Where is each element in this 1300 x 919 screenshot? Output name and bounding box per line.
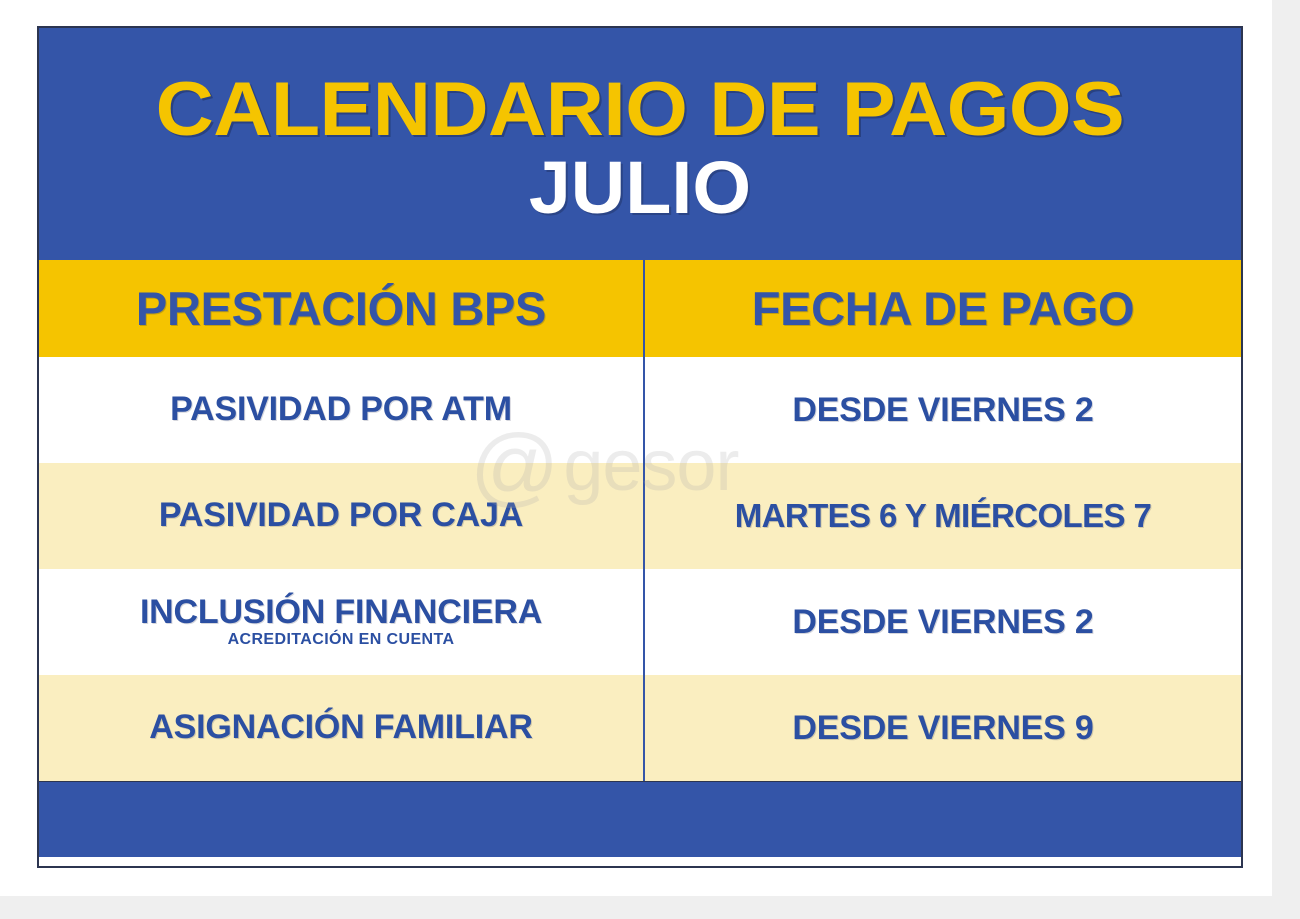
table-row: INCLUSIÓN FINANCIERA ACREDITACIÓN EN CUE…: [39, 569, 1241, 675]
benefit-label: INCLUSIÓN FINANCIERA: [140, 595, 542, 631]
page-bottom-strip: [0, 896, 1300, 919]
benefit-label: PASIVIDAD POR ATM: [170, 392, 512, 428]
pay-date-label: DESDE VIERNES 9: [645, 709, 1241, 748]
cell-pay-date: DESDE VIERNES 9: [644, 675, 1241, 781]
table-row: PASIVIDAD POR CAJA MARTES 6 Y MIÉRCOLES …: [39, 463, 1241, 569]
page-canvas: CALENDARIO DE PAGOS JULIO PRESTACIÓN BPS…: [0, 0, 1300, 919]
benefit-label: ASIGNACIÓN FAMILIAR: [149, 710, 532, 746]
benefit-label: PASIVIDAD POR CAJA: [159, 498, 523, 534]
column-header-benefit: PRESTACIÓN BPS: [39, 260, 644, 357]
pay-date-label: DESDE VIERNES 2: [645, 391, 1241, 430]
poster-footer-bar: [39, 781, 1241, 857]
payments-table: PRESTACIÓN BPS FECHA DE PAGO PASIVIDAD P…: [39, 260, 1241, 781]
cell-pay-date: DESDE VIERNES 2: [644, 357, 1241, 463]
cell-benefit: PASIVIDAD POR ATM: [39, 357, 644, 463]
page-right-rail: [1272, 0, 1300, 896]
poster-banner: CALENDARIO DE PAGOS JULIO: [39, 28, 1241, 260]
cell-benefit: INCLUSIÓN FINANCIERA ACREDITACIÓN EN CUE…: [39, 569, 644, 675]
poster-month-subtitle: JULIO: [529, 150, 751, 225]
cell-benefit: PASIVIDAD POR CAJA: [39, 463, 644, 569]
cell-pay-date: DESDE VIERNES 2: [644, 569, 1241, 675]
payment-calendar-poster: CALENDARIO DE PAGOS JULIO PRESTACIÓN BPS…: [37, 26, 1243, 868]
column-header-pay-date: FECHA DE PAGO: [644, 260, 1241, 357]
benefit-note-label: ACREDITACIÓN EN CUENTA: [228, 632, 455, 649]
table-header-row: PRESTACIÓN BPS FECHA DE PAGO: [39, 260, 1241, 357]
pay-date-label: DESDE VIERNES 2: [645, 603, 1241, 642]
pay-date-label: MARTES 6 Y MIÉRCOLES 7: [645, 497, 1241, 535]
table-row: ASIGNACIÓN FAMILIAR DESDE VIERNES 9: [39, 675, 1241, 781]
cell-pay-date: MARTES 6 Y MIÉRCOLES 7: [644, 463, 1241, 569]
cell-benefit: ASIGNACIÓN FAMILIAR: [39, 675, 644, 781]
poster-title: CALENDARIO DE PAGOS: [156, 73, 1125, 147]
table-row: PASIVIDAD POR ATM DESDE VIERNES 2: [39, 357, 1241, 463]
